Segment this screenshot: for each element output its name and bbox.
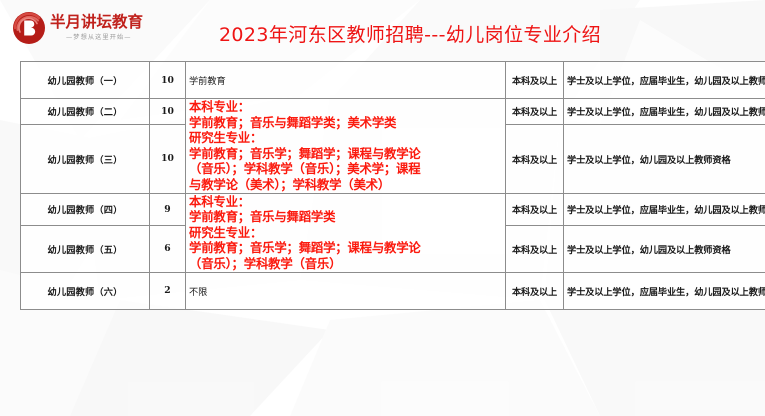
table-row: 幼儿园教师（四） 9 本科专业： 学前教育；音乐与舞蹈学类 研究生专业： 学前教… [21,193,765,225]
major-red-block: 本科专业： 学前教育；音乐与舞蹈学类 研究生专业： 学前教育；音乐学；舞蹈学；课… [189,194,502,272]
logo-subtitle: —梦想从这里开始— [66,33,143,43]
cell-post: 幼儿园教师（四） [21,193,150,225]
major-line: 学前教育；音乐与舞蹈学类 [189,209,502,225]
major-line: （音乐）；学科教学（音乐）；美术学；课程 [189,161,502,177]
major-text: 学前教育 [189,76,226,87]
major-line: 研究生专业： [189,225,502,241]
table-row: 幼儿园教师（六） 2 不限 本科及以上 学士及以上学位，应届毕业生，幼儿园及以上… [21,272,765,309]
job-positions-table: 幼儿园教师（一） 10 学前教育 本科及以上 学士及以上学位，应届毕业生，幼儿园… [20,61,765,310]
job-table-container: 幼儿园教师（一） 10 学前教育 本科及以上 学士及以上学位，应届毕业生，幼儿园… [20,61,746,310]
brand-logo: 半月讲坛教育 —梦想从这里开始— [10,7,160,49]
cell-major: 学前教育 [186,62,506,99]
cell-degree: 本科及以上 [506,225,564,272]
major-line: 本科专业： [189,194,502,210]
major-text: 不限 [189,287,207,298]
cell-degree: 本科及以上 [506,62,564,99]
major-line: 学前教育；音乐学；舞蹈学；课程与教学论 [189,146,502,162]
cell-degree: 本科及以上 [506,193,564,225]
cell-count: 6 [150,225,186,272]
cell-major: 不限 [186,272,506,309]
cell-post: 幼儿园教师（五） [21,225,150,272]
cell-post: 幼儿园教师（一） [21,62,150,99]
major-line: 学前教育；音乐学；舞蹈学；课程与教学论 [189,240,502,256]
cell-other-requirements: 学士及以上学位，幼儿园及以上教师资格 [564,124,765,193]
cell-post: 幼儿园教师（二） [21,99,150,125]
major-line: 与教学论（美术）；学科教学（美术） [189,177,502,193]
cell-degree: 本科及以上 [506,272,564,309]
cell-degree: 本科及以上 [506,99,564,125]
cell-other-requirements: 学士及以上学位，幼儿园及以上教师资格 [564,225,765,272]
cell-count: 9 [150,193,186,225]
logo-title: 半月讲坛教育 [50,14,143,31]
major-line: 本科专业： [189,99,502,115]
cell-other-requirements: 学士及以上学位，应届毕业生，幼儿园及以上教师资格 [564,99,765,125]
table-row: 幼儿园教师（一） 10 学前教育 本科及以上 学士及以上学位，应届毕业生，幼儿园… [21,62,765,99]
cell-other-requirements: 学士及以上学位，应届毕业生，幼儿园及以上教师资格 [564,62,765,99]
major-line: 学前教育；音乐与舞蹈学类；美术学类 [189,115,502,131]
page-header: 半月讲坛教育 —梦想从这里开始— 2023年河东区教师招聘---幼儿岗位专业介绍 [0,0,765,58]
cell-count: 10 [150,62,186,99]
page-title: 2023年河东区教师招聘---幼儿岗位专业介绍 [200,20,620,47]
circular-swirl-emblem-icon [10,9,48,47]
major-red-block: 本科专业： 学前教育；音乐与舞蹈学类；美术学类 研究生专业： 学前教育；音乐学；… [189,99,502,193]
cell-degree: 本科及以上 [506,124,564,193]
cell-other-requirements: 学士及以上学位，应届毕业生，幼儿园及以上教师资格 [564,193,765,225]
cell-count: 10 [150,124,186,193]
cell-other-requirements: 学士及以上学位，应届毕业生，幼儿园及以上教师资格 [564,272,765,309]
major-line: 研究生专业： [189,130,502,146]
cell-major-highlight: 本科专业： 学前教育；音乐与舞蹈学类 研究生专业： 学前教育；音乐学；舞蹈学；课… [186,193,506,272]
major-line: （音乐）；学科教学（音乐） [189,256,502,272]
cell-post: 幼儿园教师（六） [21,272,150,309]
cell-count: 10 [150,99,186,125]
cell-post: 幼儿园教师（三） [21,124,150,193]
cell-major-highlight: 本科专业： 学前教育；音乐与舞蹈学类；美术学类 研究生专业： 学前教育；音乐学；… [186,99,506,194]
cell-count: 2 [150,272,186,309]
table-row: 幼儿园教师（二） 10 本科专业： 学前教育；音乐与舞蹈学类；美术学类 研究生专… [21,99,765,125]
